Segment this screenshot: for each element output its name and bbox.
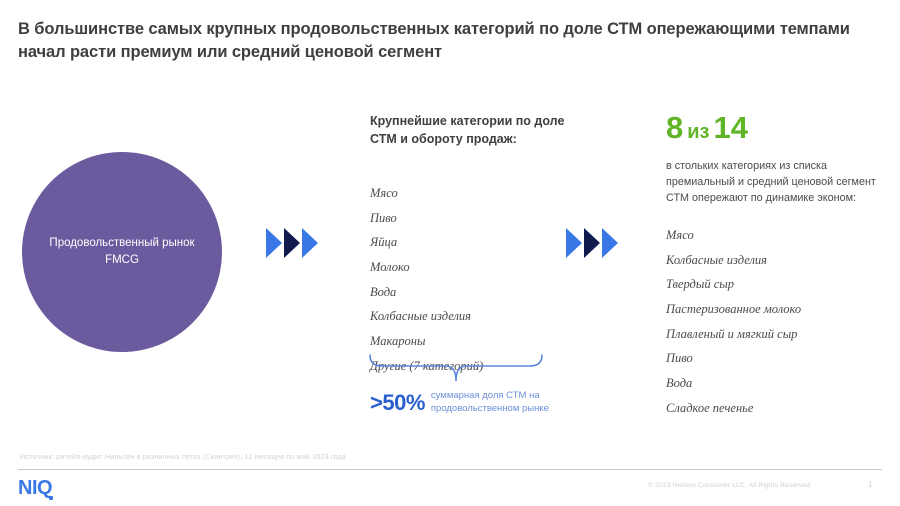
list-item: Мясо (370, 187, 580, 200)
fmcg-market-label: Продовольственный рынок FMCG (42, 235, 202, 268)
share-stat-note: суммарная доля СТМ на продовольственном … (431, 390, 571, 416)
headline-stat: 8из14 (666, 112, 748, 143)
list-item: Яйца (370, 236, 580, 249)
niq-logo: NIQ (18, 478, 56, 498)
list-item: Твердый сыр (666, 278, 896, 291)
slide-canvas: В большинстве самых крупных продовольств… (0, 0, 900, 506)
list-item: Пиво (370, 212, 580, 225)
fmcg-market-circle: Продовольственный рынок FMCG (22, 152, 222, 352)
list-item: Колбасные изделия (370, 310, 580, 323)
list-item: Пиво (666, 352, 896, 365)
headline-stat-total: 14 (714, 110, 748, 145)
middle-column-heading: Крупнейшие категории по доле СТМ и оборо… (370, 113, 580, 149)
copyright-text: © 2023 Nielsen Consumer LLC. All Rights … (648, 482, 810, 489)
arrow-group-right (566, 228, 618, 258)
list-item: Мясо (666, 229, 896, 242)
chevron-right-icon (566, 228, 582, 258)
chevron-right-icon (302, 228, 318, 258)
headline-stat-connector: из (687, 121, 709, 143)
list-item: Плавленый и мягкий сыр (666, 328, 896, 341)
list-item: Колбасные изделия (666, 254, 896, 267)
headline-stat-description: в стольких категориях из списка премиаль… (666, 158, 881, 207)
share-stat: >50% суммарная доля СТМ на продовольстве… (370, 390, 571, 416)
list-item: Макароны (370, 335, 580, 348)
page-title: В большинстве самых крупных продовольств… (18, 18, 878, 65)
footer-divider (18, 469, 882, 470)
niq-logo-tail (49, 496, 53, 500)
share-stat-value: >50% (370, 392, 425, 414)
curly-brace-icon (368, 353, 544, 383)
chevron-right-icon (602, 228, 618, 258)
arrow-group-left (266, 228, 318, 258)
list-item: Вода (666, 377, 896, 390)
headline-stat-count: 8 (666, 110, 683, 145)
chevron-right-icon (284, 228, 300, 258)
source-note: Источник: ритейл-аудит Нильсен в розничн… (20, 452, 346, 461)
chevron-right-icon (584, 228, 600, 258)
list-item: Молоко (370, 261, 580, 274)
page-number: 1 (868, 480, 872, 489)
chevron-right-icon (266, 228, 282, 258)
right-category-list: Мясо Колбасные изделия Твердый сыр Пасте… (666, 229, 896, 427)
list-item: Вода (370, 286, 580, 299)
niq-logo-text: NIQ (18, 477, 52, 499)
list-item: Пастеризованное молоко (666, 303, 896, 316)
list-item: Сладкое печенье (666, 402, 896, 415)
